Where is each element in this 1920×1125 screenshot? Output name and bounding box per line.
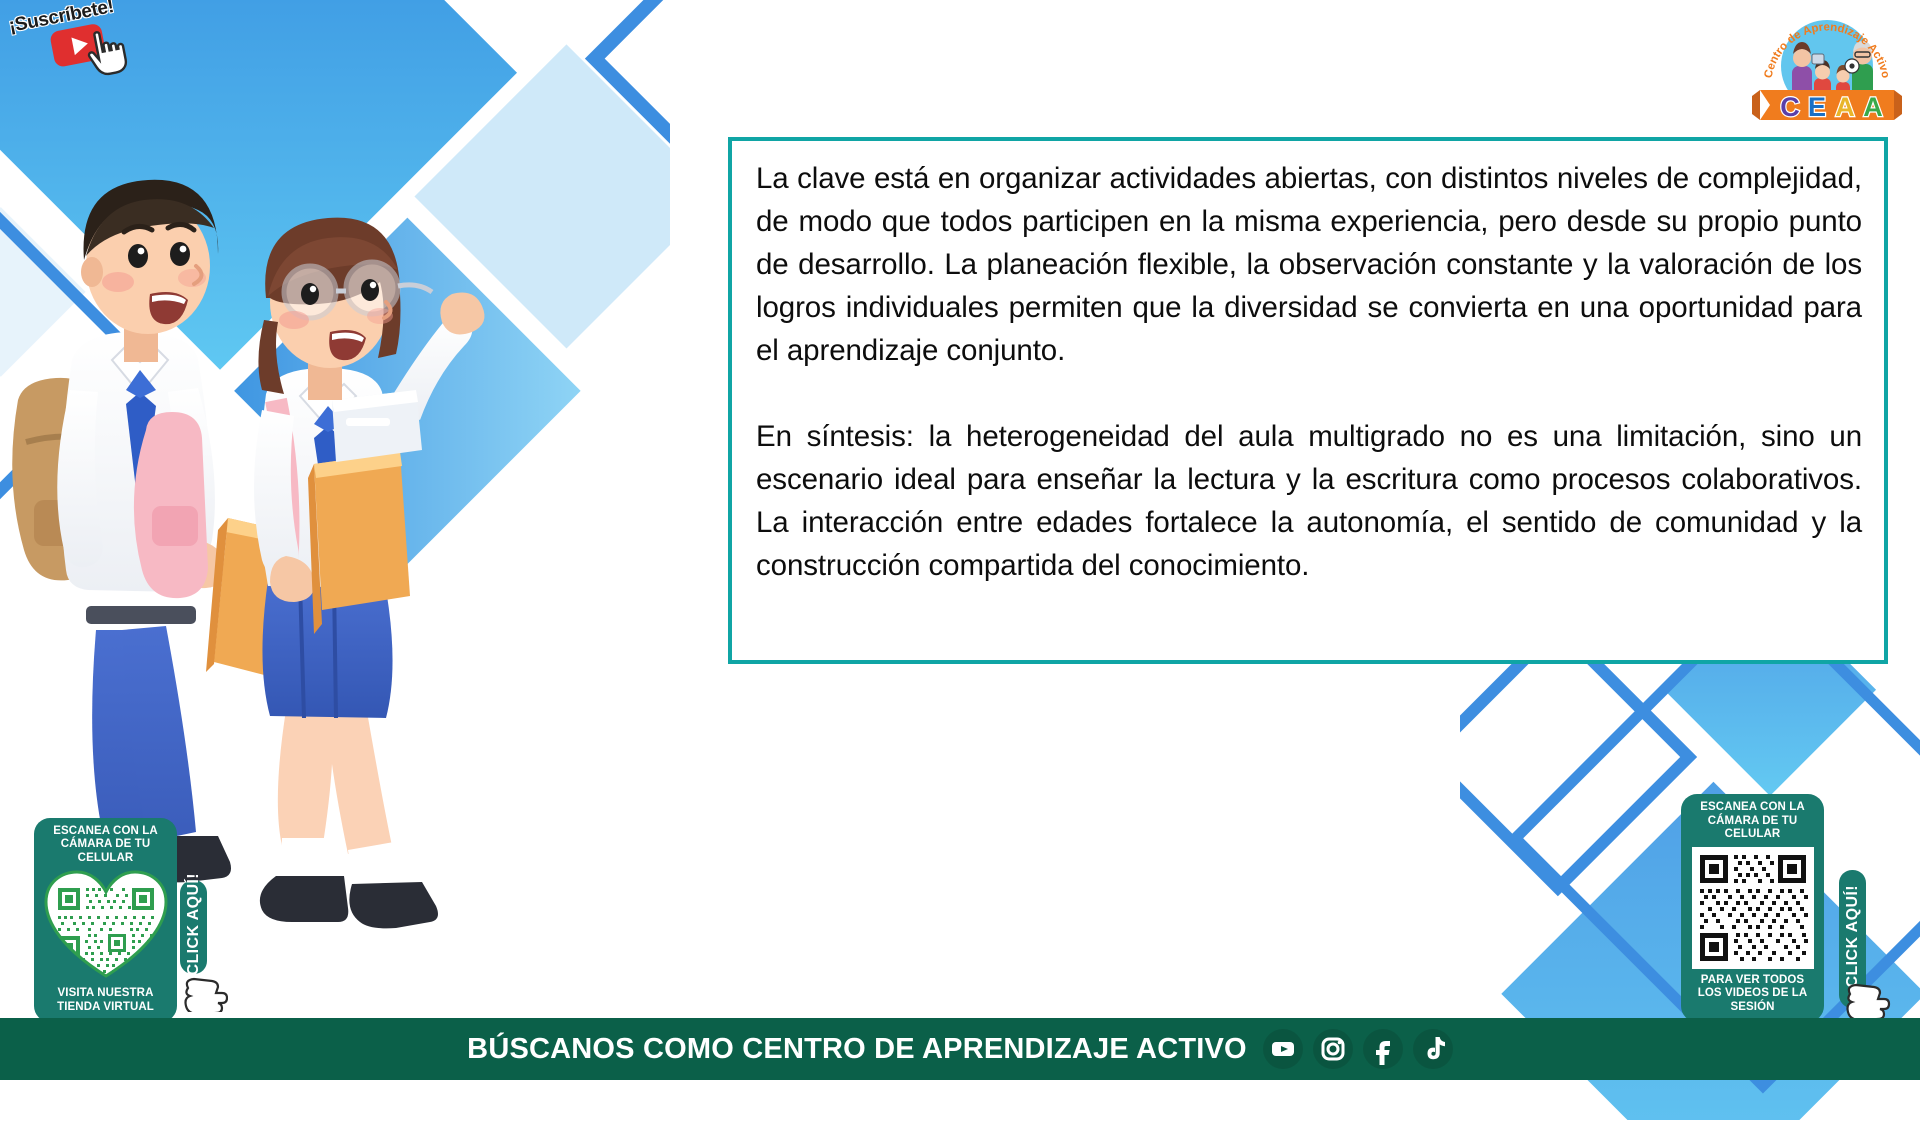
ceaa-logo-svg: Centro de Aprendizaje Activo C E A A — [1752, 4, 1902, 126]
paragraph-2: En síntesis: la heterogeneidad del aula … — [756, 415, 1862, 587]
paragraph-1: La clave está en organizar actividades a… — [756, 157, 1862, 372]
hand-pointer-icon — [184, 970, 228, 1012]
logo-letter-a2: A — [1863, 92, 1883, 122]
hand-pointer-icon — [80, 25, 130, 80]
bottom-banner: BÚSCANOS COMO CENTRO DE APRENDIZAJE ACTI… — [0, 1018, 1920, 1080]
hand-pointer-icon — [1846, 976, 1892, 1018]
qr-card-videos[interactable]: ESCANEA CON LA CÁMARA DE TU CELULAR P — [1681, 794, 1824, 1022]
qr-bottom-label: PARA VER TODOS LOS VIDEOS DE LA SESIÓN — [1689, 974, 1816, 1015]
click-tab-label: ¡CLICK AQUÍ! — [185, 873, 203, 981]
banner-text: BÚSCANOS COMO CENTRO DE APRENDIZAJE ACTI… — [467, 1033, 1247, 1066]
qr-card-store[interactable]: ESCANEA CON LA CÁMARA DE TU CELULAR — [34, 818, 177, 1023]
youtube-icon[interactable] — [1263, 1029, 1303, 1069]
qr-code-heart-icon[interactable] — [44, 870, 168, 982]
social-icons — [1263, 1029, 1453, 1069]
click-here-tab-store[interactable]: ¡CLICK AQUÍ! — [180, 880, 207, 974]
ceaa-logo: Centro de Aprendizaje Activo C E A A — [1752, 4, 1902, 126]
qr-bottom-label: VISITA NUESTRA TIENDA VIRTUAL — [42, 987, 169, 1014]
logo-letter-c: C — [1780, 92, 1800, 122]
qr-top-label: ESCANEA CON LA CÁMARA DE TU CELULAR — [42, 825, 169, 866]
main-text-panel: La clave está en organizar actividades a… — [728, 137, 1888, 664]
logo-letter-e: E — [1808, 92, 1826, 122]
subscribe-badge[interactable]: ¡Suscríbete! — [3, 0, 123, 76]
qr-code-icon[interactable] — [1692, 847, 1814, 969]
logo-letter-a1: A — [1835, 92, 1855, 122]
tiktok-icon[interactable] — [1413, 1029, 1453, 1069]
instagram-icon[interactable] — [1313, 1029, 1353, 1069]
facebook-icon[interactable] — [1363, 1029, 1403, 1069]
qr-top-label: ESCANEA CON LA CÁMARA DE TU CELULAR — [1689, 801, 1816, 842]
